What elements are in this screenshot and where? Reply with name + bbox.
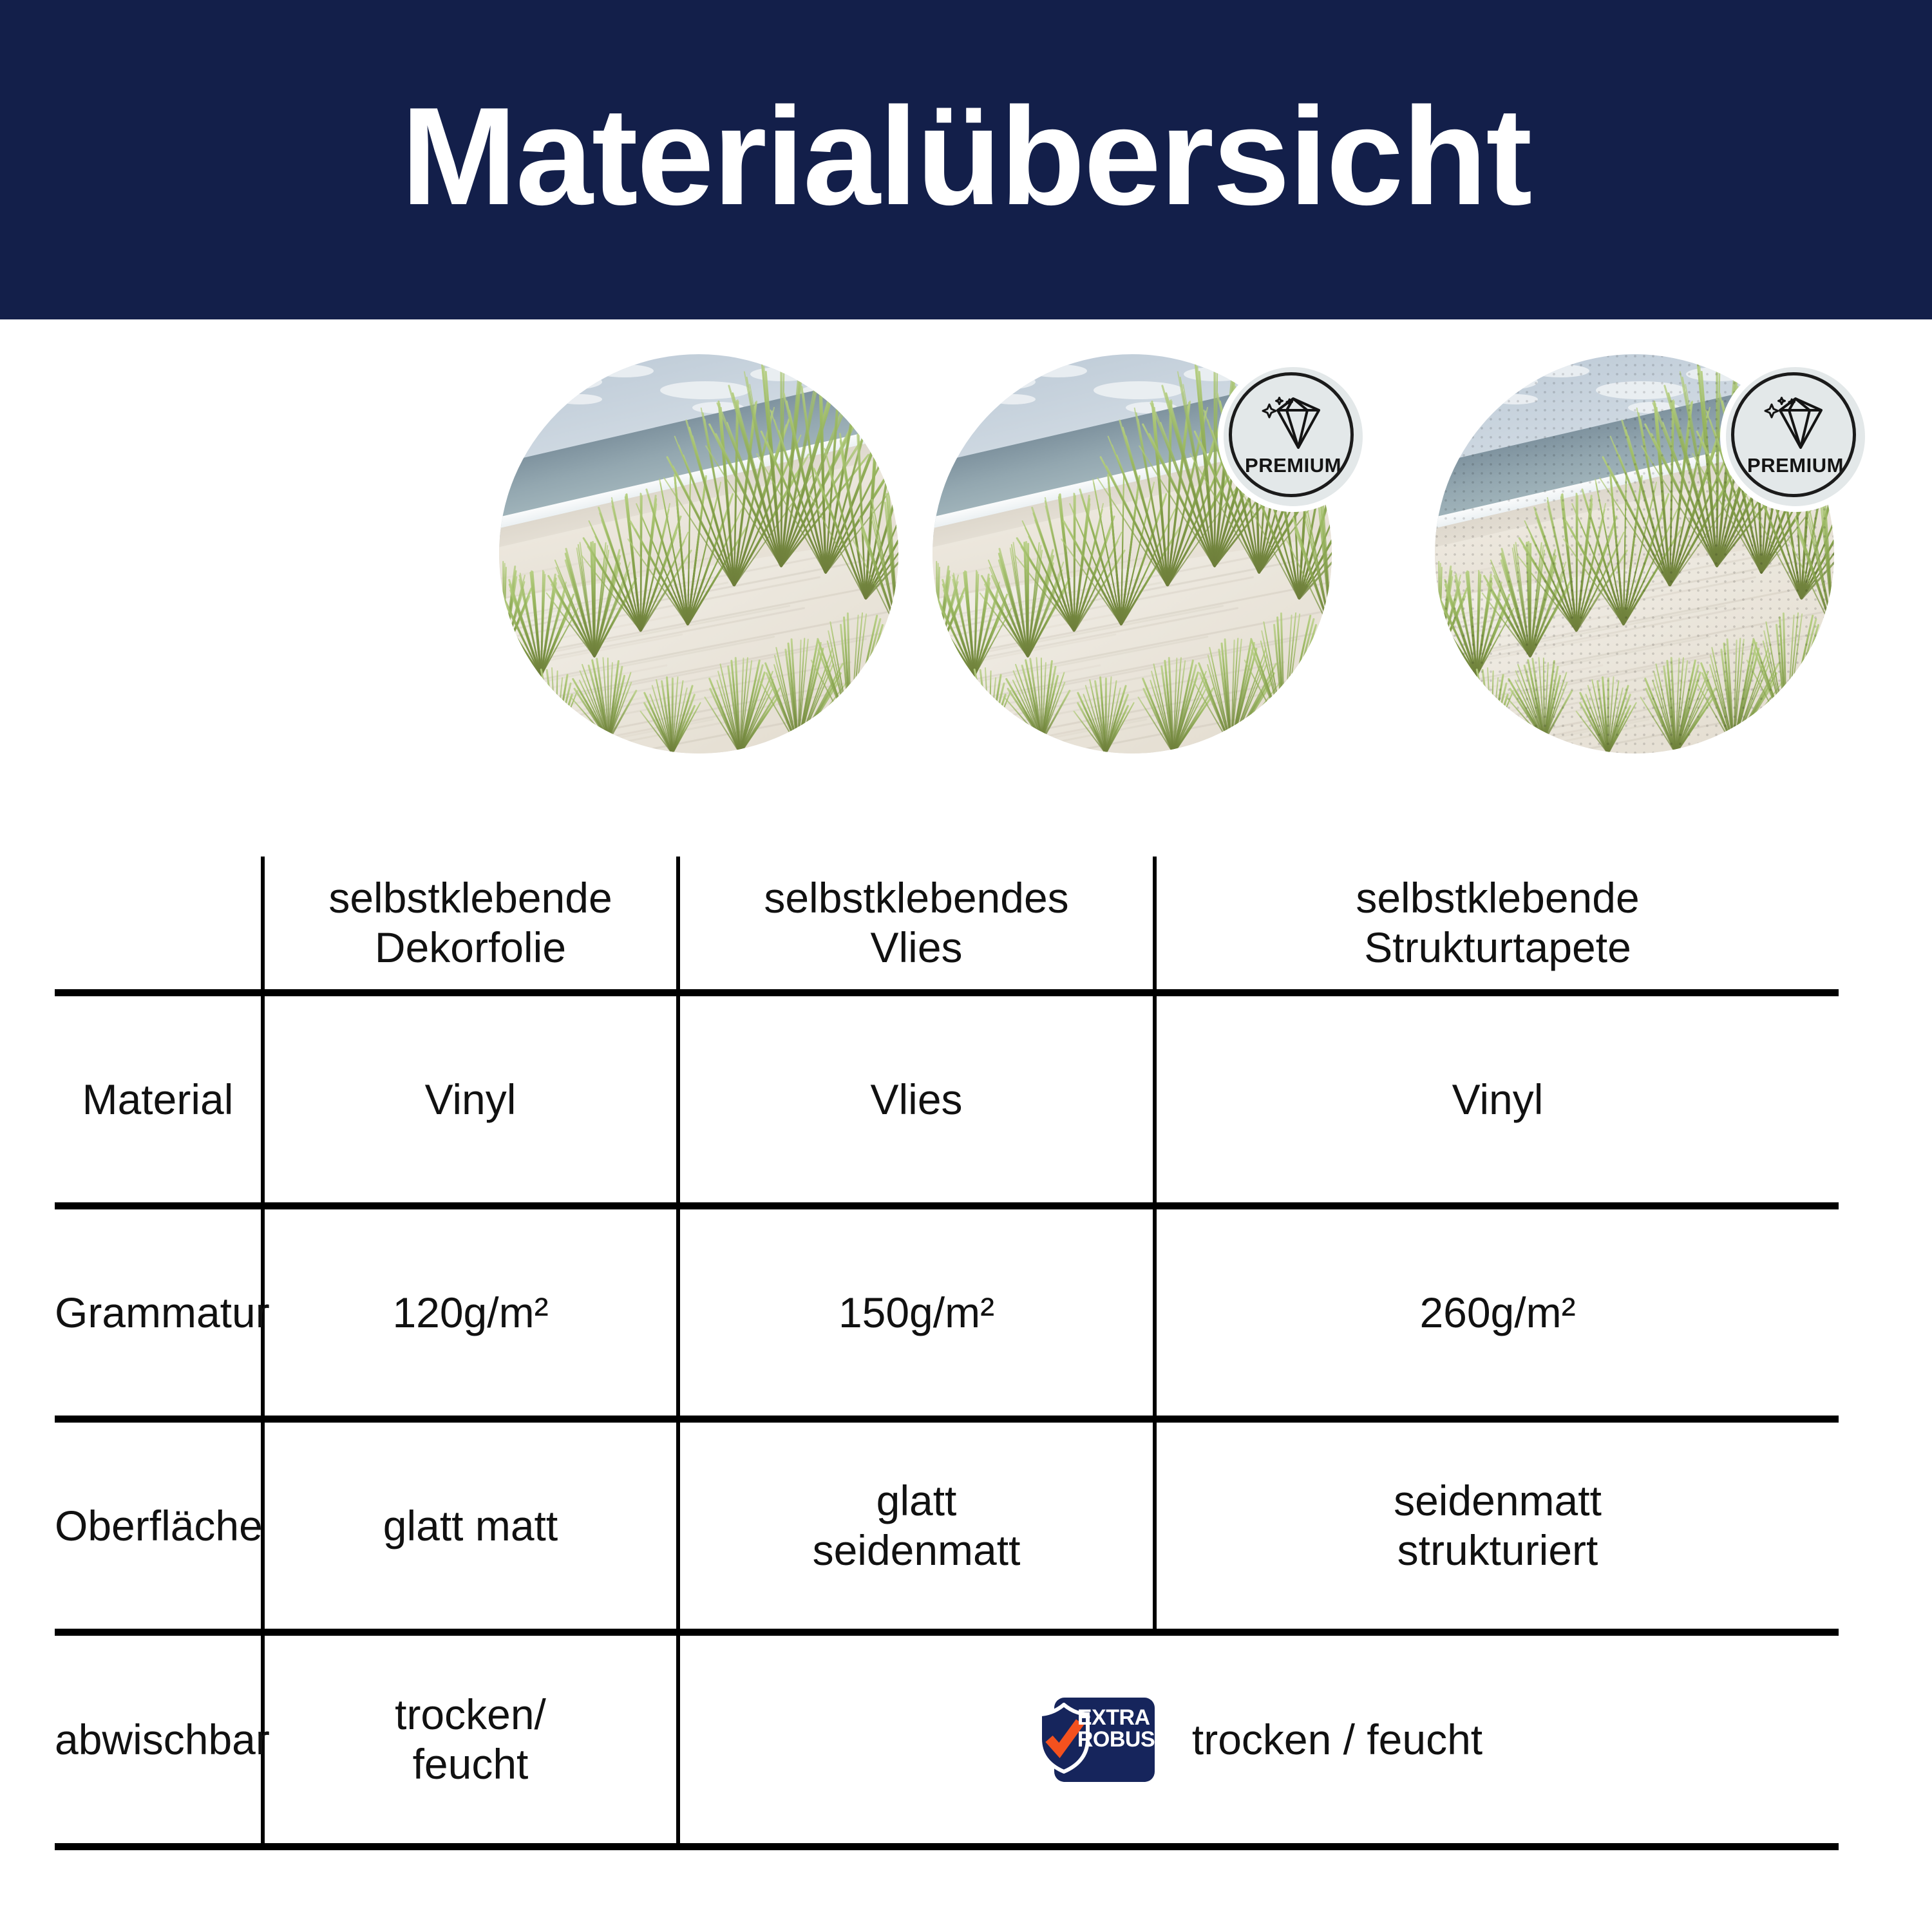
header-cell-dekorfolie: selbstklebende Dekorfolie — [263, 857, 678, 993]
badge-text: EXTRA ROBUST — [1077, 1707, 1155, 1774]
abwischbar-merged-text: trocken / feucht — [1192, 1715, 1482, 1765]
spec-table: selbstklebende Dekorfolie selbstklebende… — [55, 857, 1839, 1850]
cell-abwischbar-dekorfolie: trocken/ feucht — [263, 1633, 678, 1847]
diamond-icon — [1759, 396, 1832, 453]
premium-badge: PREMIUM — [1224, 367, 1363, 506]
table-row: Material Vinyl Vlies Vinyl — [55, 993, 1839, 1206]
page-title: Materialübersicht — [401, 86, 1531, 225]
cell-material-dekorfolie: Vinyl — [263, 993, 678, 1206]
swatch-image-1 — [499, 354, 898, 753]
swatch-vlies[interactable]: PREMIUM — [933, 354, 1332, 753]
header-bar: Materialübersicht — [0, 0, 1932, 319]
table-row: Oberfläche glatt matt glatt seidenmatt s… — [55, 1419, 1839, 1633]
row-label-abwischbar: abwischbar — [55, 1633, 263, 1847]
row-label-grammatur: Grammatur — [55, 1206, 263, 1419]
extra-robust-badge: EXTRA ROBUST — [1036, 1698, 1155, 1782]
header-cell-strukturtapete: selbstklebende Strukturtapete — [1155, 857, 1839, 993]
cell-material-strukturtapete: Vinyl — [1155, 993, 1839, 1206]
cell-oberflaeche-strukturtapete: seidenmatt strukturiert — [1155, 1419, 1839, 1633]
cell-grammatur-strukturtapete: 260g/m² — [1155, 1206, 1839, 1419]
cell-grammatur-vlies: 150g/m² — [678, 1206, 1155, 1419]
cell-material-vlies: Vlies — [678, 993, 1155, 1206]
beach-dune-photo — [499, 354, 898, 753]
cell-grammatur-dekorfolie: 120g/m² — [263, 1206, 678, 1419]
row-label-oberflaeche: Oberfläche — [55, 1419, 263, 1633]
header-cell-empty — [55, 857, 263, 993]
material-swatch-row: PREMIUM — [0, 354, 1932, 779]
table-header-row: selbstklebende Dekorfolie selbstklebende… — [55, 857, 1839, 993]
cell-abwischbar-merged: EXTRA ROBUST trocken / feucht — [678, 1633, 1839, 1847]
cell-oberflaeche-vlies: glatt seidenmatt — [678, 1419, 1155, 1633]
swatch-strukturtapete[interactable]: PREMIUM — [1435, 354, 1834, 753]
table-row: abwischbar trocken/ feucht — [55, 1633, 1839, 1847]
material-spec-table: selbstklebende Dekorfolie selbstklebende… — [55, 857, 1839, 1850]
premium-badge: PREMIUM — [1726, 367, 1865, 506]
table-row: Grammatur 120g/m² 150g/m² 260g/m² — [55, 1206, 1839, 1419]
row-label-material: Material — [55, 993, 263, 1206]
cell-oberflaeche-dekorfolie: glatt matt — [263, 1419, 678, 1633]
swatch-dekorfolie[interactable] — [499, 354, 898, 753]
header-cell-vlies: selbstklebendes Vlies — [678, 857, 1155, 993]
diamond-icon — [1257, 396, 1329, 453]
